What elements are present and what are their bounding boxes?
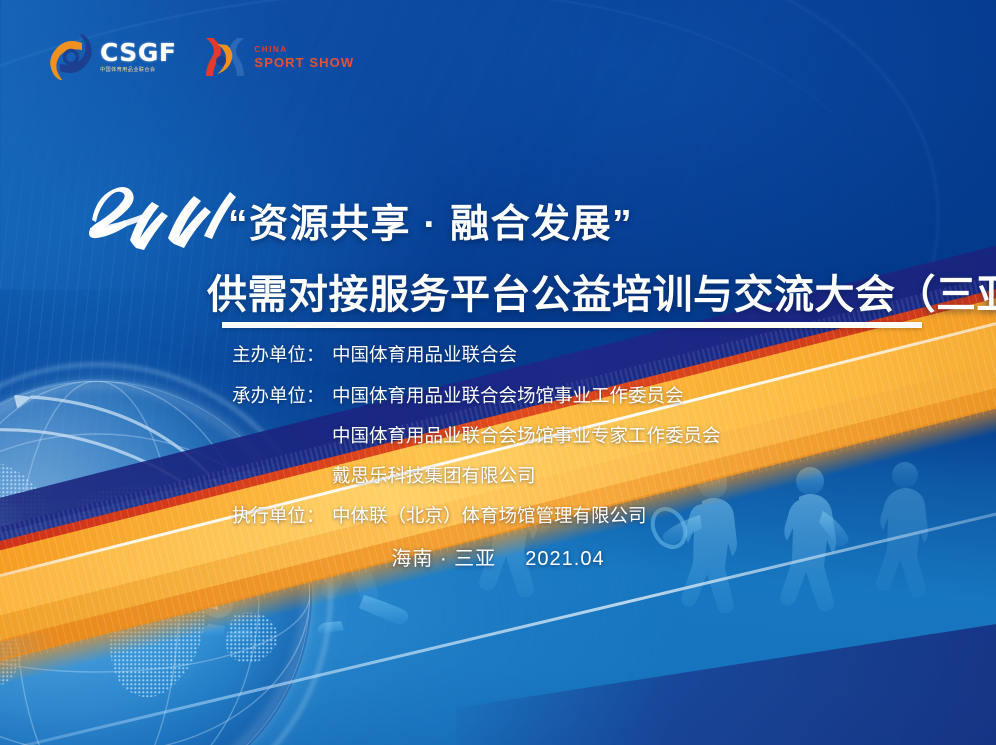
organizer-value-executor: 中体联（北京）体育场馆管理有限公司 xyxy=(332,502,647,528)
organizer-label-co-host: 承办单位： xyxy=(232,382,332,408)
event-poster: CSGF 中国体育用品业联合会 CHINA SPORT SHOW xyxy=(0,0,996,745)
csgf-logo-subtext: 中国体育用品业联合会 xyxy=(100,68,176,73)
organizer-row-co-host-2: 中国体育用品业联合会场馆事业专家工作委员会 xyxy=(232,422,952,448)
organizer-list: 主办单位： 中国体育用品业联合会 承办单位： 中国体育用品业联合会场馆事业工作委… xyxy=(232,341,952,543)
csgf-logo-text: CSGF xyxy=(100,40,176,65)
organizer-label-host: 主办单位： xyxy=(232,341,332,367)
organizer-row-host: 主办单位： 中国体育用品业联合会 xyxy=(232,341,952,367)
organizer-row-executor: 执行单位： 中体联（北京）体育场馆管理有限公司 xyxy=(232,502,952,528)
organizer-row-co-host-1: 承办单位： 中国体育用品业联合会场馆事业工作委员会 xyxy=(232,382,952,408)
csgf-mark-icon xyxy=(48,34,94,80)
organizer-value-host: 中国体育用品业联合会 xyxy=(332,341,517,367)
year-script-2021 xyxy=(86,176,236,256)
organizer-value-co-host-3: 戴思乐科技集团有限公司 xyxy=(332,462,536,488)
event-theme: “资源共享 · 融合发展” xyxy=(228,193,633,249)
china-sport-show-line2: SPORT SHOW xyxy=(254,56,354,69)
organizer-row-co-host-3: 戴思乐科技集团有限公司 xyxy=(232,462,952,488)
china-sport-show-logo: CHINA SPORT SHOW xyxy=(204,34,354,80)
organizer-label-executor: 执行单位： xyxy=(232,502,332,528)
title-divider xyxy=(222,322,922,328)
organizer-value-co-host-1: 中国体育用品业联合会场馆事业工作委员会 xyxy=(332,382,684,408)
csgf-logo: CSGF 中国体育用品业联合会 xyxy=(48,34,176,80)
china-sport-show-mark-icon xyxy=(204,34,246,80)
logo-row: CSGF 中国体育用品业联合会 CHINA SPORT SHOW xyxy=(48,34,354,80)
china-sport-show-line1: CHINA xyxy=(254,46,354,54)
venue-location: 海南 · 三亚 xyxy=(391,548,496,570)
venue-date: 2021.04 xyxy=(525,548,604,570)
organizer-value-co-host-2: 中国体育用品业联合会场馆事业专家工作委员会 xyxy=(332,422,721,448)
venue-date-line: 海南 · 三亚 2021.04 xyxy=(0,542,996,571)
page-title: 供需对接服务平台公益培训与交流大会（三亚站） xyxy=(207,262,996,320)
